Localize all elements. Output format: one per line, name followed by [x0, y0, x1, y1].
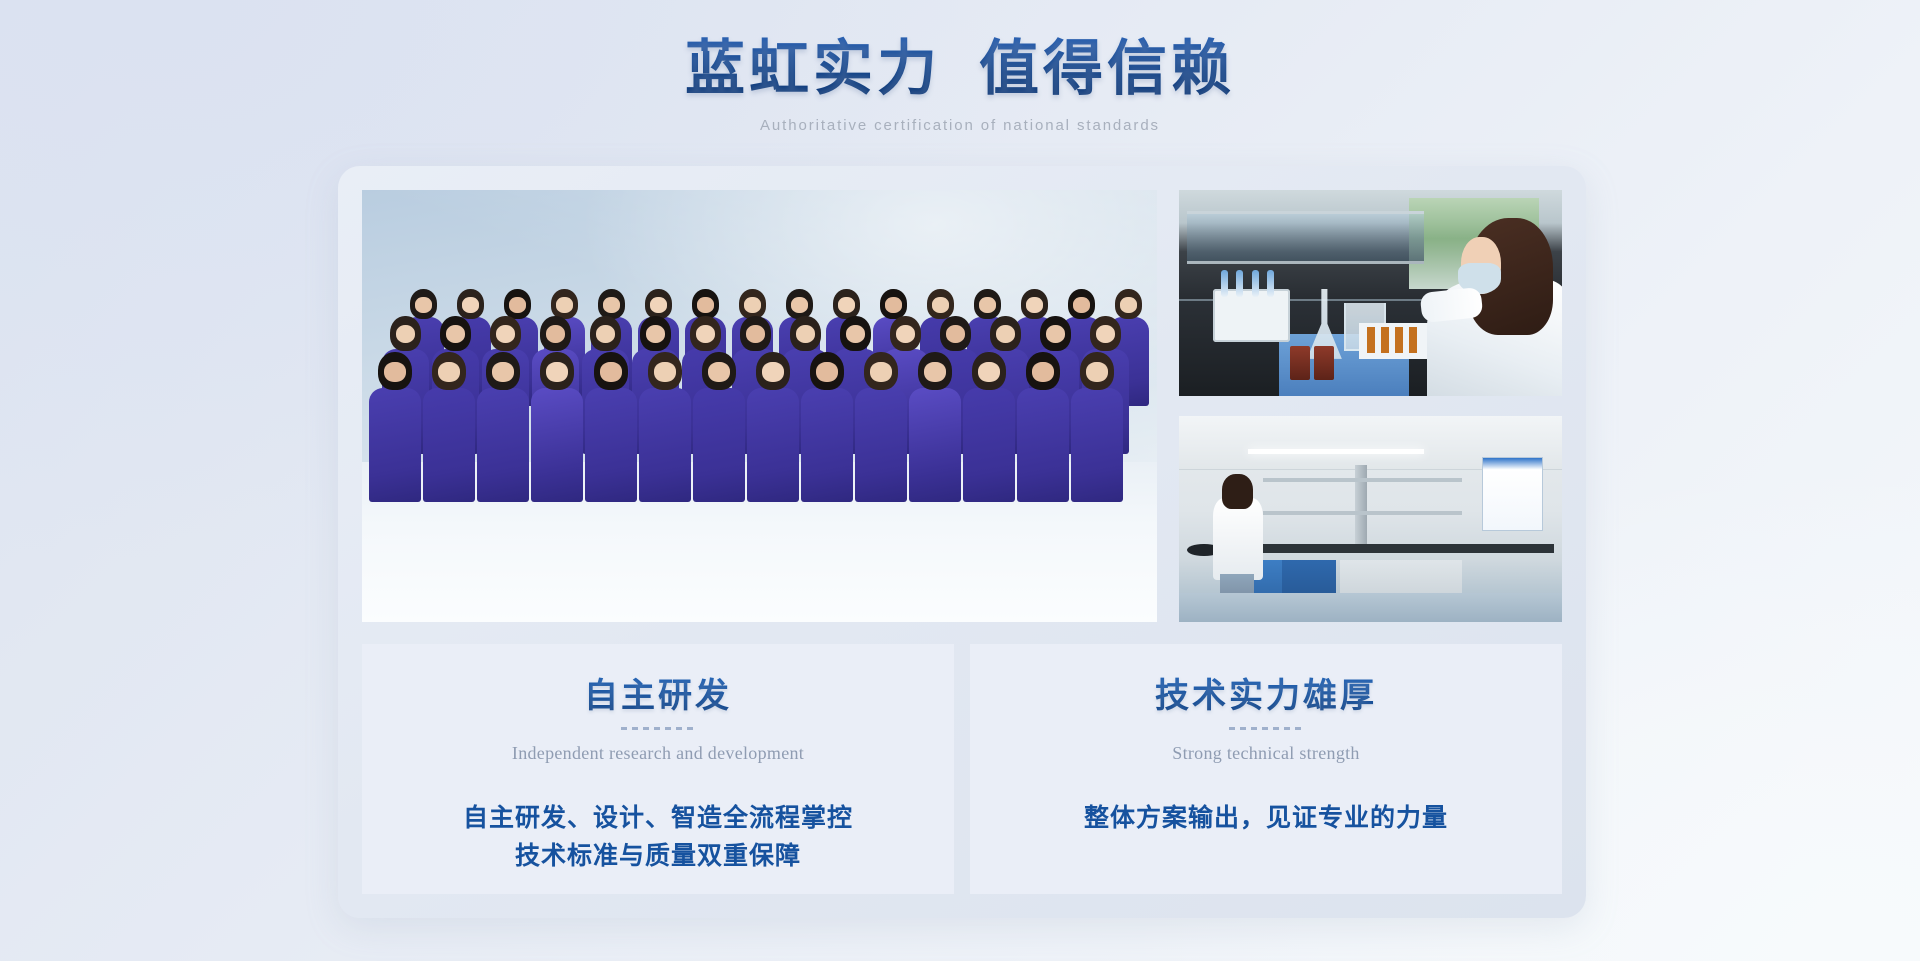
- lab-wall-poster: [1482, 457, 1543, 531]
- lab-bench-top: [1233, 544, 1555, 553]
- team-member: [1026, 352, 1060, 502]
- card-title: 自主研发: [382, 668, 934, 717]
- team-member: [378, 352, 412, 502]
- card-divider: [1229, 727, 1303, 730]
- page-title: 蓝虹实力 值得信赖: [0, 34, 1920, 105]
- card-body-line-1: 整体方案输出，见证专业的力量: [990, 800, 1542, 838]
- card-divider: [621, 727, 695, 730]
- team-group-photo: [362, 190, 1157, 622]
- lab-reagent-bottles: [1290, 340, 1336, 380]
- card-subtitle: Strong technical strength: [990, 743, 1542, 764]
- lab-ceiling-light: [1248, 449, 1424, 454]
- team-member: [810, 352, 844, 502]
- card-body: 自主研发、设计、智造全流程掌控 技术标准与质量双重保障: [382, 800, 934, 876]
- team-member: [864, 352, 898, 502]
- card-body-line-1: 自主研发、设计、智造全流程掌控: [382, 800, 934, 838]
- team-member: [648, 352, 682, 502]
- lab-glass-shelf: [1187, 211, 1424, 265]
- info-card-rnd: 自主研发 Independent research and developmen…: [362, 644, 954, 894]
- lab-photo-room: [1179, 416, 1562, 622]
- card-title: 技术实力雄厚: [990, 668, 1542, 717]
- lab-photo-technician: [1179, 190, 1562, 396]
- card-body: 整体方案输出，见证专业的力量: [990, 800, 1542, 838]
- info-card-technical: 技术实力雄厚 Strong technical strength 整体方案输出，…: [970, 644, 1562, 894]
- page-subtitle: Authoritative certification of national …: [0, 117, 1920, 134]
- page-header: 蓝虹实力 值得信赖 Authoritative certification of…: [0, 0, 1920, 134]
- lab-reagent-shelf-lower: [1263, 511, 1462, 515]
- photo-crowd: [362, 242, 1157, 502]
- lab-reagent-shelf-upper: [1263, 478, 1462, 482]
- team-member: [918, 352, 952, 502]
- info-cards-row: 自主研发 Independent research and developmen…: [362, 644, 1562, 894]
- side-photo-stack: [1179, 190, 1562, 622]
- team-member: [702, 352, 736, 502]
- content-panel: 自主研发 Independent research and developmen…: [338, 166, 1586, 918]
- team-member: [1080, 352, 1114, 502]
- team-member: [756, 352, 790, 502]
- card-subtitle: Independent research and development: [382, 743, 934, 764]
- media-row: [362, 190, 1562, 622]
- team-member: [432, 352, 466, 502]
- lab-technician: [1409, 206, 1562, 396]
- team-member: [486, 352, 520, 502]
- team-member: [594, 352, 628, 502]
- lab-technician-standing: [1213, 474, 1263, 610]
- lab-pipette-rack: [1213, 289, 1290, 343]
- team-member: [972, 352, 1006, 502]
- lab-floor: [1179, 593, 1562, 622]
- team-member: [540, 352, 574, 502]
- card-body-line-2: 技术标准与质量双重保障: [382, 838, 934, 876]
